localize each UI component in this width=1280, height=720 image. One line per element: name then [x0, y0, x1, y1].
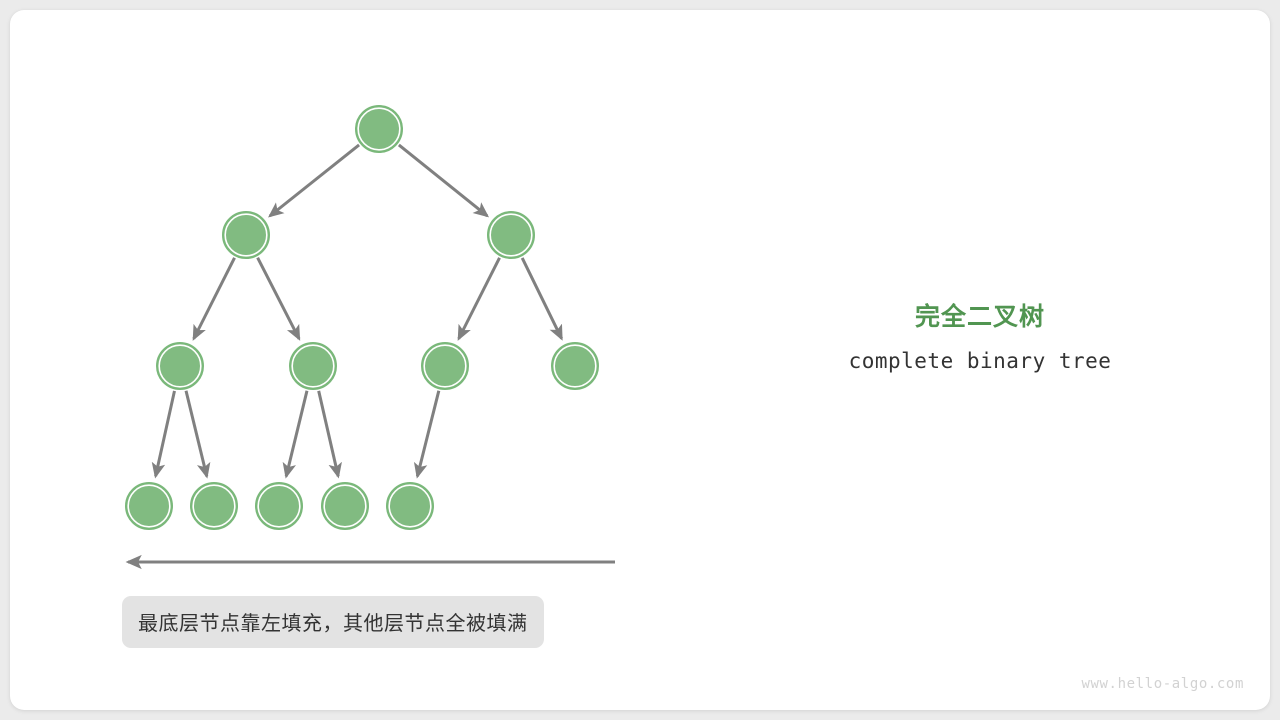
tree-node — [387, 483, 433, 529]
tree-edge — [258, 258, 300, 339]
node-core — [390, 486, 429, 525]
tree-edge — [286, 391, 307, 477]
tree-node — [191, 483, 237, 529]
node-core — [226, 215, 265, 254]
tree-node — [422, 343, 468, 389]
diagram-card: 完全二叉树 complete binary tree 最底层节点靠左填充，其他层… — [10, 10, 1270, 710]
tree-edges — [156, 145, 562, 477]
tree-node — [356, 106, 402, 152]
watermark-label: www.hello-algo.com — [1081, 676, 1244, 692]
tree-edge — [417, 391, 438, 477]
title-block: 完全二叉树 complete binary tree — [770, 302, 1190, 373]
tree-nodes — [126, 106, 598, 529]
tree-node — [256, 483, 302, 529]
tree-edge — [194, 258, 235, 339]
page-subtitle: complete binary tree — [770, 349, 1190, 373]
tree-node — [126, 483, 172, 529]
tree-edge — [186, 391, 207, 477]
tree-edge — [459, 258, 500, 339]
node-core — [194, 486, 233, 525]
tree-node — [488, 212, 534, 258]
tree-edge — [522, 258, 561, 339]
caption-label: 最底层节点靠左填充，其他层节点全被填满 — [122, 596, 544, 648]
tree-node — [552, 343, 598, 389]
tree-node — [223, 212, 269, 258]
tree-edge — [319, 391, 339, 476]
node-core — [325, 486, 364, 525]
node-core — [359, 109, 398, 148]
node-core — [293, 346, 332, 385]
tree-edge — [270, 145, 359, 216]
node-core — [129, 486, 168, 525]
caption-container: 最底层节点靠左填充，其他层节点全被填满 — [122, 596, 544, 648]
node-core — [259, 486, 298, 525]
node-core — [160, 346, 199, 385]
node-core — [491, 215, 530, 254]
node-core — [425, 346, 464, 385]
tree-edge — [399, 145, 487, 216]
tree-node — [157, 343, 203, 389]
tree-node — [290, 343, 336, 389]
page-title: 完全二叉树 — [770, 302, 1190, 332]
node-core — [555, 346, 594, 385]
tree-node — [322, 483, 368, 529]
tree-edge — [156, 391, 175, 476]
